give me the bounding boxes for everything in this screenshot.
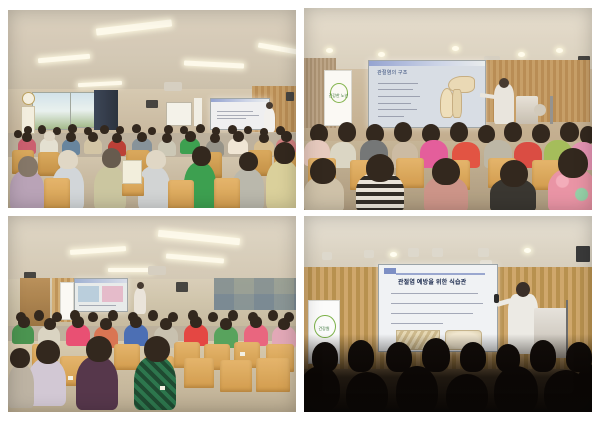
slide-bullet-line (378, 116, 404, 117)
wall-speaker (286, 92, 294, 101)
chair-number-tag (68, 376, 73, 380)
packed-auditorium-scene (8, 216, 296, 412)
wall-speaker (146, 100, 158, 108)
slide-corner-mark (384, 268, 396, 274)
photo-collage: 건강한 노년 관절염의 구조 (0, 0, 600, 424)
slide-photo-block (78, 286, 99, 302)
slide-text-line (217, 111, 253, 112)
lecture-hall-scene (8, 10, 296, 208)
banner-text: 건강원 (313, 326, 335, 332)
presenter-head (137, 282, 144, 289)
slide-bullet-line (391, 313, 474, 314)
ceiling-light (108, 268, 152, 272)
wall-speaker (176, 282, 188, 292)
presenter-head (266, 102, 273, 109)
projection-screen (74, 278, 128, 312)
slide-bullet-line (391, 323, 443, 324)
track-light (408, 248, 419, 257)
slide-title: 관절염 예방을 위한 식습관 (398, 277, 467, 286)
ceiling (8, 216, 296, 287)
photo-top-left[interactable] (8, 10, 296, 208)
slide-bullet-line (378, 89, 413, 90)
microphone-icon (494, 294, 499, 303)
stage-curtain (94, 90, 118, 130)
slide-bullet-line (378, 103, 410, 104)
slide-photo-block (102, 286, 123, 302)
projection-screen: 관절염의 구조 (368, 60, 486, 128)
ceiling-downlight (556, 48, 563, 53)
wall-speaker (576, 246, 590, 262)
ceiling-projector (164, 82, 182, 91)
presenter-with-anatomy-slide-scene: 건강한 노년 관절염의 구조 (304, 8, 592, 210)
slide-text-line (217, 118, 246, 119)
photo-bottom-left[interactable] (8, 216, 296, 412)
ceiling-downlight (452, 46, 459, 51)
presenter-body (134, 288, 146, 314)
slide-title-rule (396, 273, 486, 275)
slide-title: 관절염의 구조 (377, 69, 407, 76)
wall-sign (194, 98, 202, 126)
slide-bullet-line (378, 96, 420, 97)
banner-text: 건강한 노년 (329, 93, 348, 99)
slide-text-line (79, 305, 115, 306)
chair-number-tag (160, 386, 165, 390)
track-light (478, 248, 489, 257)
ceiling-downlight (524, 248, 531, 253)
chair-number-tag (240, 352, 245, 356)
photo-top-right[interactable]: 건강한 노년 관절염의 구조 (304, 8, 592, 210)
ceiling-downlight (390, 252, 397, 257)
slide-bullet-line (391, 303, 483, 304)
slide-bullet-line (378, 83, 417, 84)
stand-light (550, 96, 553, 124)
projection-screen (210, 98, 270, 130)
wall-panel-grid (214, 278, 296, 310)
whiteboard (166, 102, 192, 126)
slide-bullet-line (391, 293, 478, 294)
floor-fan (534, 104, 546, 116)
chair-front (44, 178, 70, 208)
chair-front (214, 178, 240, 208)
presenter-head (516, 282, 530, 297)
foreground-shadow (304, 334, 592, 412)
slide-text-line (217, 115, 259, 116)
presenter-head (499, 78, 509, 88)
presenter-body (494, 84, 514, 124)
ceiling-downlight (378, 52, 385, 57)
diet-slide-lecture-scene: 관절염 예방을 위한 식습관 건강원 (304, 216, 592, 412)
chair-front (168, 180, 194, 208)
track-light (432, 248, 443, 257)
ceiling-downlight (518, 52, 525, 57)
slide-header-band (211, 99, 269, 102)
slide-header-band (75, 279, 127, 283)
handout-paper (122, 160, 142, 184)
wall-clock (22, 92, 35, 105)
photo-bottom-right[interactable]: 관절염 예방을 위한 식습관 건강원 (304, 216, 592, 412)
ceiling-downlight (326, 48, 333, 53)
track-light (364, 250, 374, 258)
track-light (322, 252, 332, 260)
event-banner: 건강한 노년 (324, 70, 352, 126)
ceiling-projector (148, 266, 166, 275)
shoulder-joint-diagram (434, 76, 476, 122)
slide-header-band (369, 61, 485, 66)
window (32, 92, 72, 130)
slide-bullet-line (378, 109, 416, 110)
